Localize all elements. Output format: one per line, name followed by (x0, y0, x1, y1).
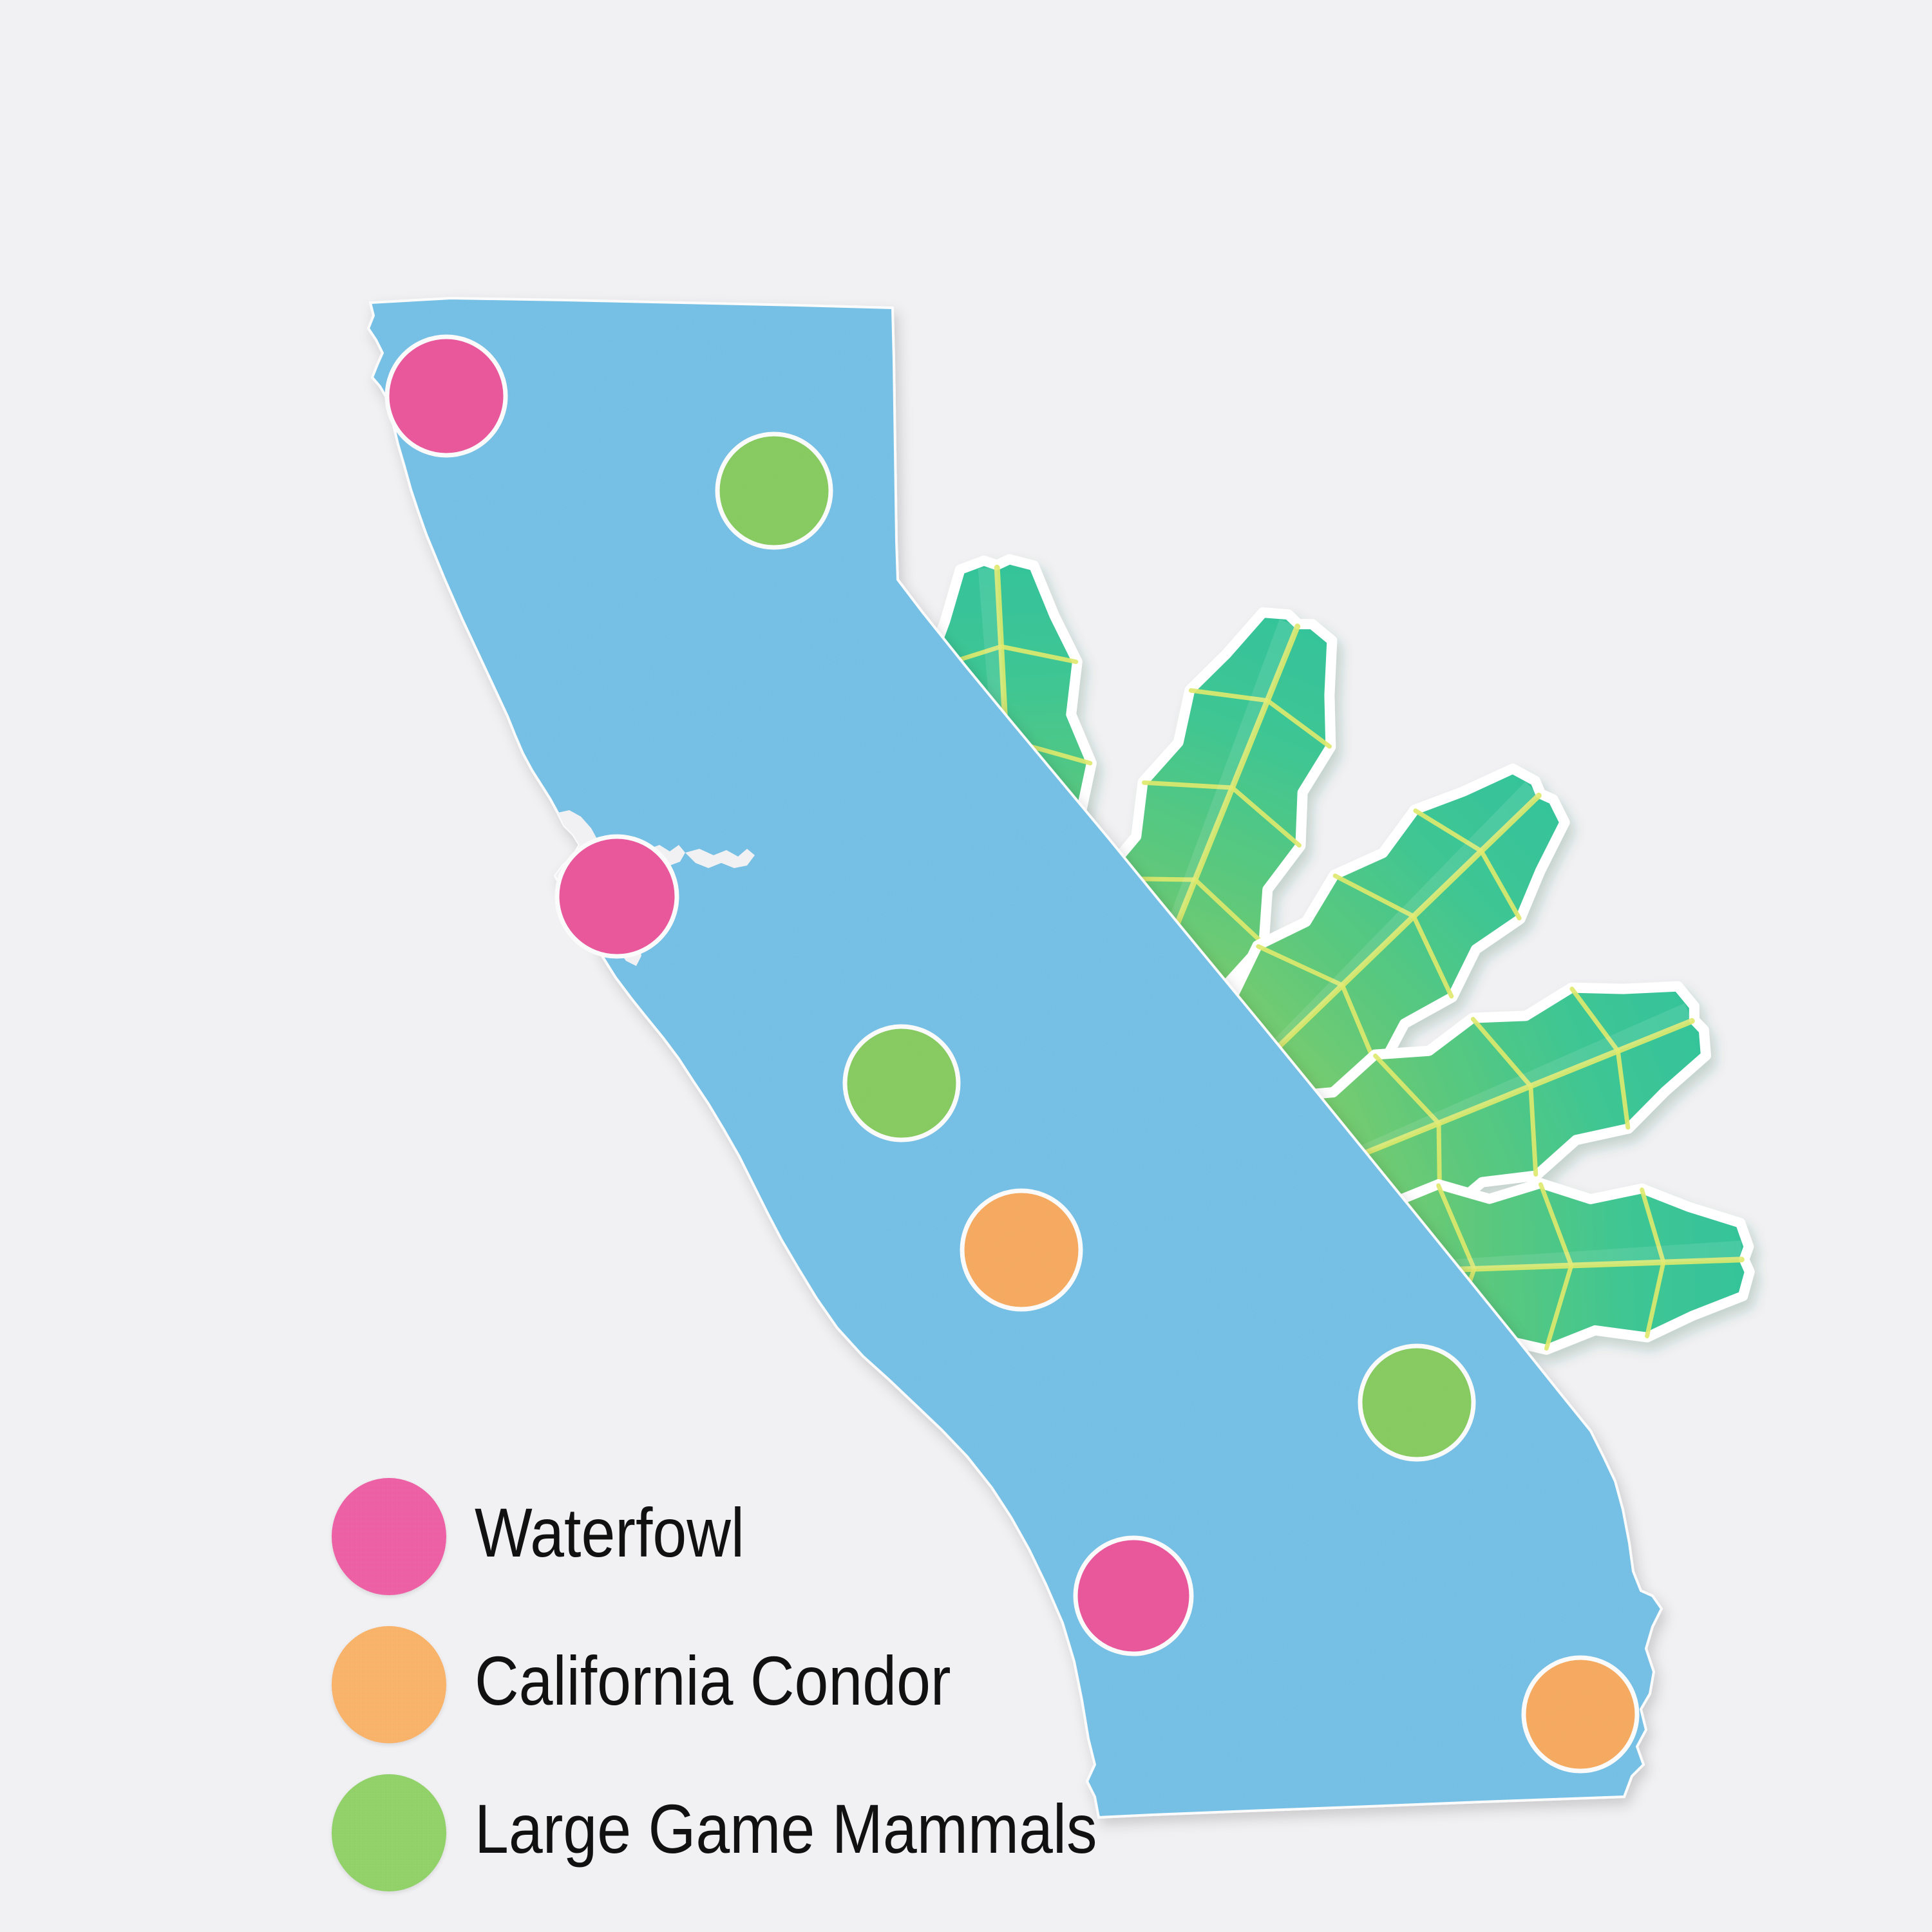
marker-waterfowl-north-coast[interactable] (387, 337, 506, 455)
legend-swatch-large-game-mammals (332, 1774, 446, 1891)
marker-condor-central-coast[interactable] (962, 1191, 1081, 1309)
map-legend: Waterfowl California Condor Large Game M… (332, 1478, 1169, 1922)
marker-large-game-northeast[interactable] (717, 434, 831, 547)
legend-swatch-waterfowl (332, 1478, 446, 1595)
legend-item-large-game-mammals[interactable]: Large Game Mammals (332, 1774, 1169, 1922)
legend-item-waterfowl[interactable]: Waterfowl (332, 1478, 1169, 1626)
marker-large-game-central-valley[interactable] (845, 1027, 958, 1140)
legend-label-large-game-mammals: Large Game Mammals (475, 1781, 1097, 1877)
legend-label-waterfowl: Waterfowl (475, 1484, 744, 1581)
marker-waterfowl-bay-area[interactable] (557, 837, 677, 956)
poster-canvas: Wildlife Preserves (0, 0, 1932, 1932)
marker-condor-southeast[interactable] (1524, 1658, 1637, 1771)
legend-item-california-condor[interactable]: California Condor (332, 1626, 1169, 1774)
legend-label-california-condor: California Condor (475, 1633, 951, 1729)
marker-large-game-mojave[interactable] (1360, 1346, 1473, 1459)
legend-swatch-california-condor (332, 1626, 446, 1743)
